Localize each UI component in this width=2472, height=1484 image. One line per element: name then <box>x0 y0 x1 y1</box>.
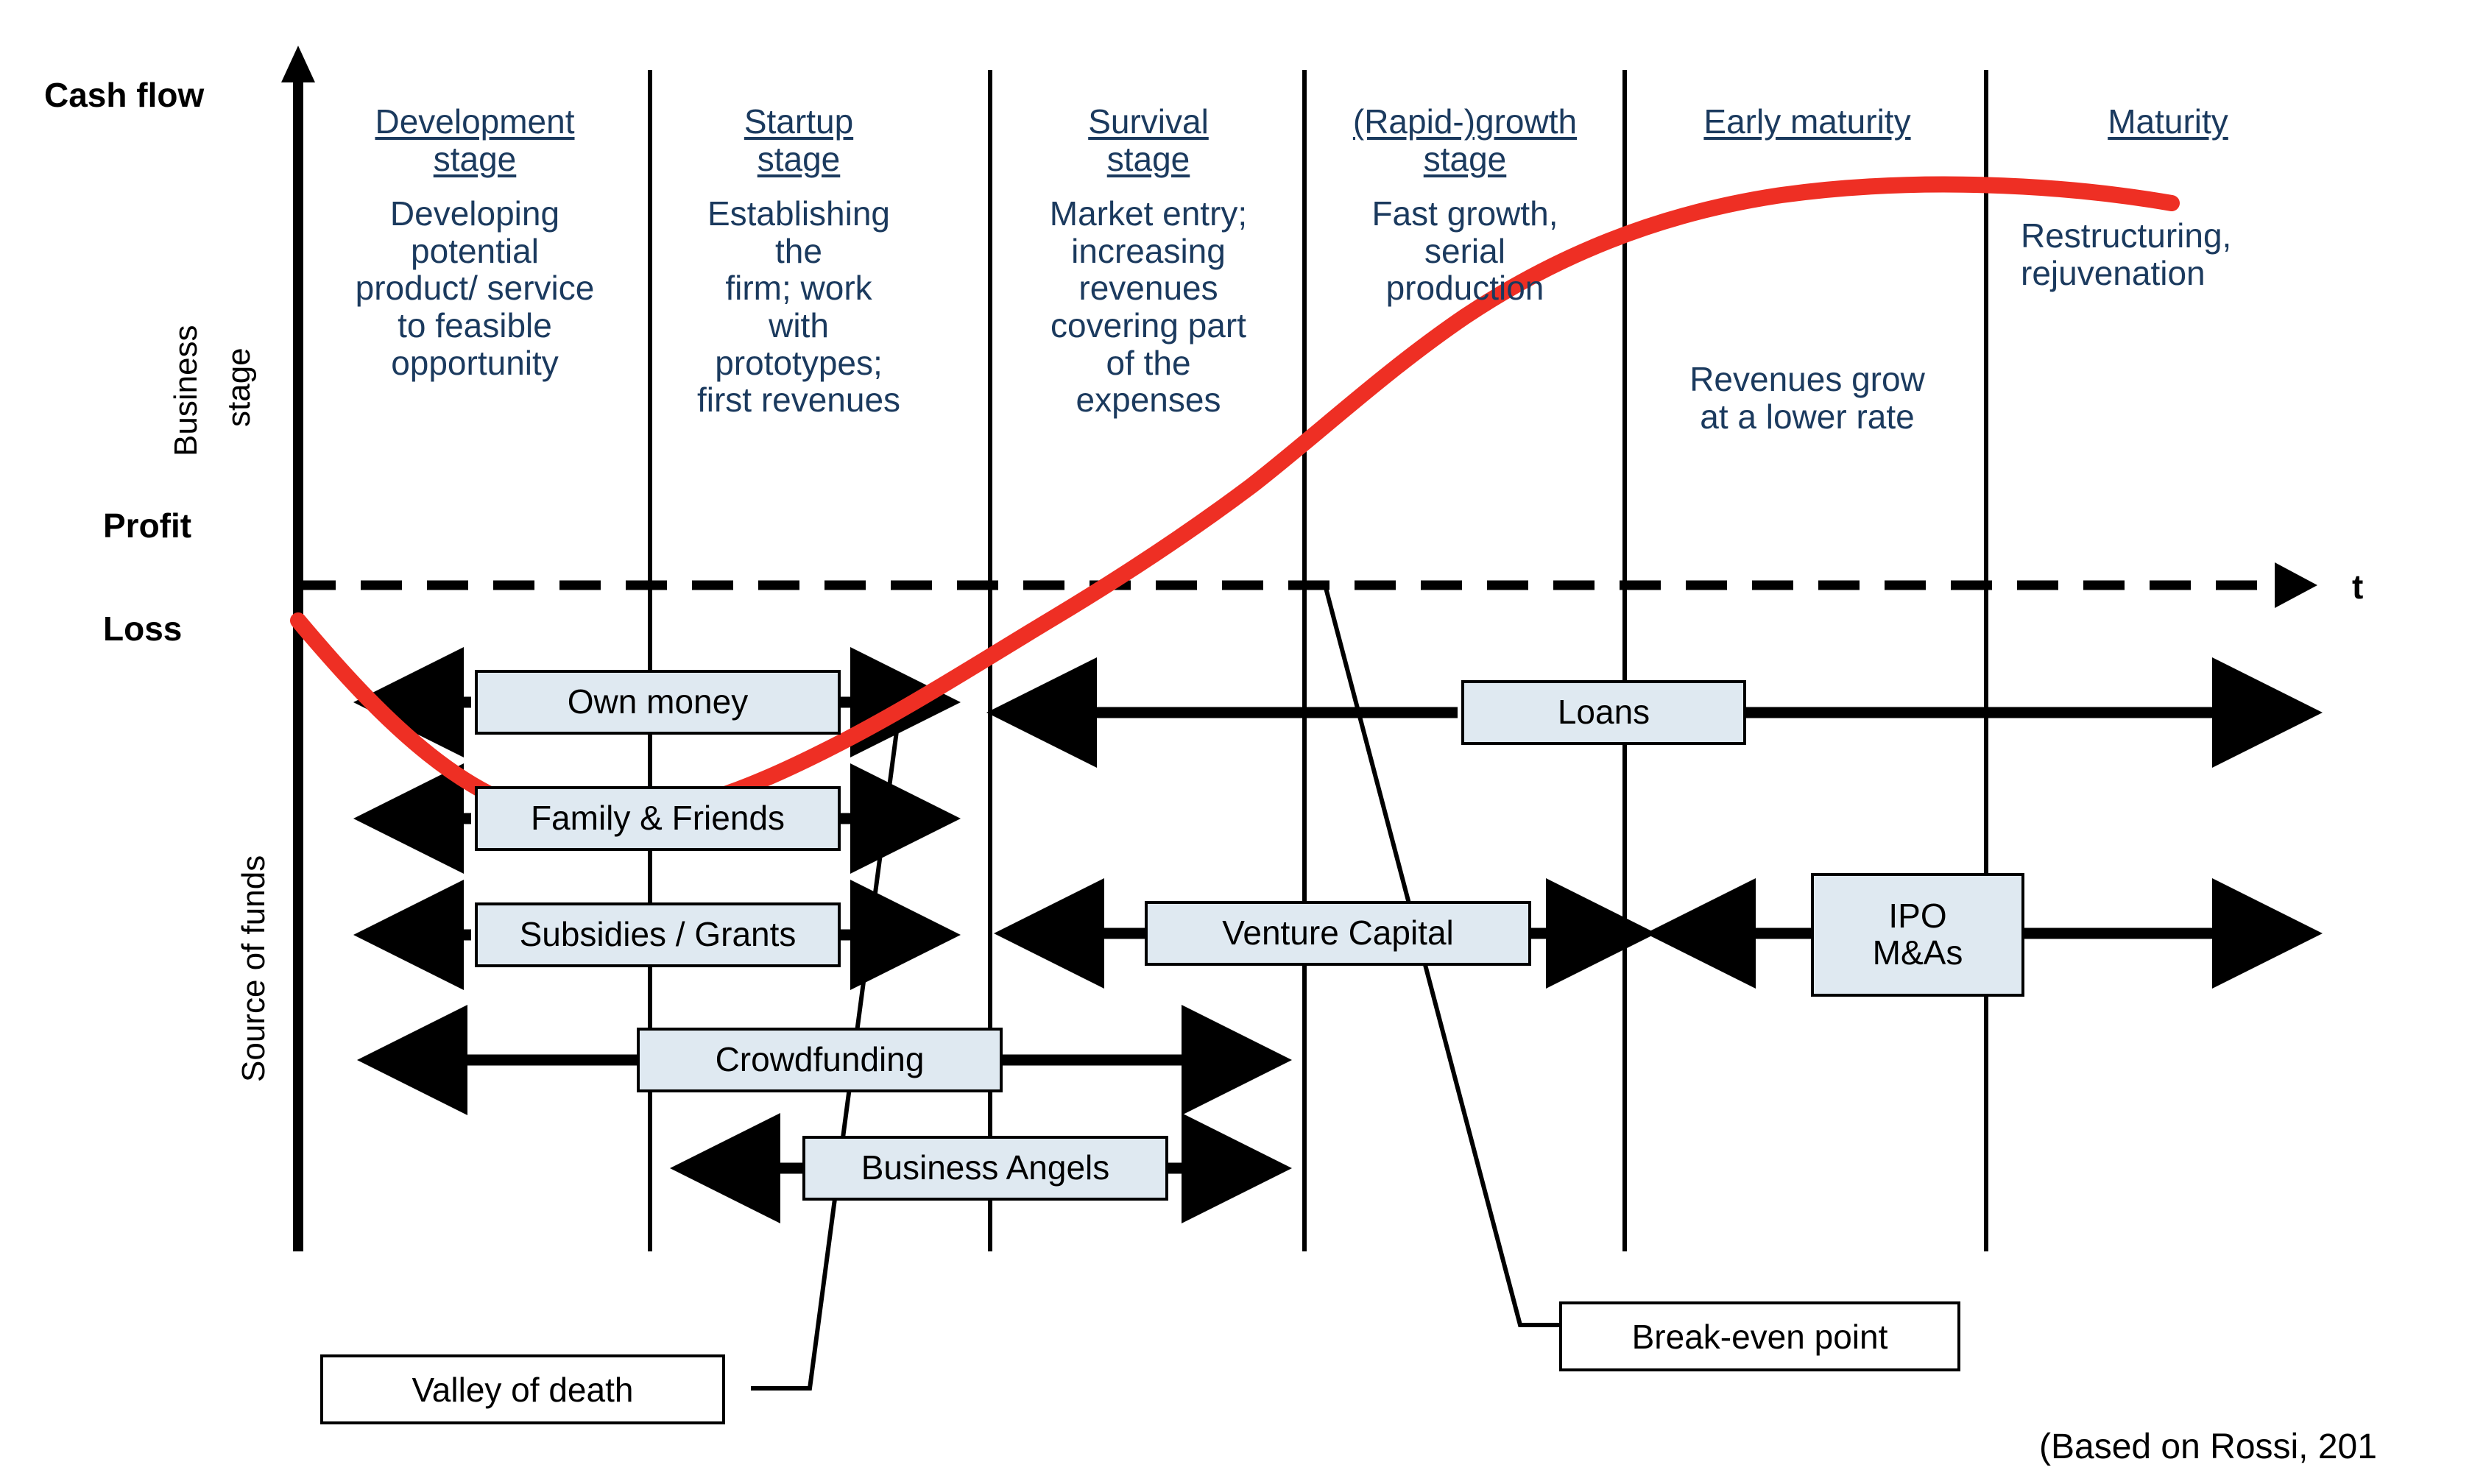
funding-box-loans[interactable]: Loans <box>1461 680 1746 745</box>
funding-box-venture-capital[interactable]: Venture Capital <box>1145 901 1531 966</box>
y-axis-label: Cash flow <box>44 77 204 113</box>
stage-title-line1: (Rapid-)growth <box>1353 102 1577 141</box>
stage-column-rapid-growth: (Rapid-)growth stage Fast growth, serial… <box>1318 103 1612 307</box>
callout-break-even-point[interactable]: Break-even point <box>1559 1301 1960 1371</box>
stage-column-development: Development stage Developing potential p… <box>331 103 618 381</box>
stage-desc-development: Developing potential product/ service to… <box>331 195 618 381</box>
stage-title-maturity: Maturity <box>1995 103 2341 141</box>
stage-title-rapid-growth: (Rapid-)growth stage <box>1318 103 1612 177</box>
stage-desc-startup: Establishing the firm; work with prototy… <box>666 195 931 419</box>
stage-desc-rapid-growth: Fast growth, serial production <box>1318 195 1612 307</box>
callout-valley-of-death[interactable]: Valley of death <box>320 1354 725 1424</box>
stage-title-line2: stage <box>434 140 517 178</box>
funding-box-ipo-line: IPO <box>1888 898 1946 935</box>
funding-box-ipo-mas[interactable]: IPO M&As <box>1811 873 2024 997</box>
stage-title-line2: stage <box>1424 140 1507 178</box>
funding-box-crowdfunding[interactable]: Crowdfunding <box>637 1028 1003 1092</box>
stage-title-startup: Startup stage <box>666 103 931 177</box>
stage-desc-maturity: Restructuring, rejuvenation <box>2021 217 2367 291</box>
business-stage-line2: stage <box>221 347 257 427</box>
stage-title-early-maturity: Early maturity <box>1634 103 1980 141</box>
business-stage-axis-label-2: stage <box>221 347 258 427</box>
stage-title-line1: Development <box>375 102 574 141</box>
funding-box-family-friends[interactable]: Family & Friends <box>475 786 841 851</box>
stage-title-development: Development stage <box>331 103 618 177</box>
funding-box-own-money[interactable]: Own money <box>475 670 841 735</box>
profit-label: Profit <box>103 508 191 543</box>
diagram-canvas: Cash flow Profit Loss t Business stage S… <box>0 0 2472 1484</box>
stage-desc-early-maturity-wrap: Revenues grow at a lower rate <box>1634 361 1980 435</box>
business-stage-line1: Business <box>168 325 204 456</box>
stage-title-line1: Maturity <box>2108 102 2228 141</box>
source-of-funds-axis-label: Source of funds <box>236 855 272 1082</box>
stage-column-maturity: Maturity <box>1995 103 2341 141</box>
stage-desc-survival: Market entry; increasing revenues coveri… <box>1005 195 1292 419</box>
stage-title-survival: Survival stage <box>1005 103 1292 177</box>
source-credit: (Based on Rossi, 201 <box>2039 1427 2377 1467</box>
stage-desc-early-maturity: Revenues grow at a lower rate <box>1634 361 1980 435</box>
stage-title-line1: Startup <box>744 102 853 141</box>
stage-title-line1: Early maturity <box>1703 102 1910 141</box>
stage-title-line2: stage <box>1107 140 1190 178</box>
stage-column-startup: Startup stage Establishing the firm; wor… <box>666 103 931 419</box>
funding-box-subsidies-grants[interactable]: Subsidies / Grants <box>475 902 841 967</box>
funding-box-mas-line: M&As <box>1873 935 1963 972</box>
stage-title-line1: Survival <box>1088 102 1209 141</box>
source-of-funds-text: Source of funds <box>236 855 272 1082</box>
x-axis-label: t <box>2352 567 2363 607</box>
stage-desc-maturity-wrap: Restructuring, rejuvenation <box>2021 217 2367 291</box>
stage-title-line2: stage <box>758 140 841 178</box>
business-stage-axis-label: Business <box>168 325 205 456</box>
stage-column-survival: Survival stage Market entry; increasing … <box>1005 103 1292 419</box>
y-axis <box>281 46 315 1251</box>
loss-label: Loss <box>103 611 182 646</box>
stage-column-early-maturity: Early maturity <box>1634 103 1980 141</box>
funding-box-business-angels[interactable]: Business Angels <box>802 1136 1168 1201</box>
